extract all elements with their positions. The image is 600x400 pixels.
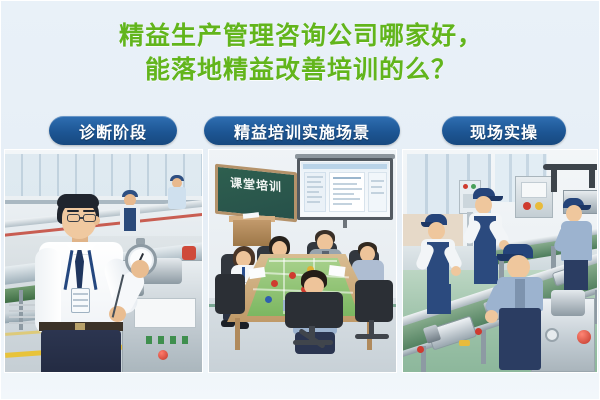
panel-practice <box>402 149 598 373</box>
assembly-line-illustration <box>403 150 597 372</box>
poster-title: 精益生产管理咨询公司哪家好， 能落地精益改善培训的么？ <box>1 19 600 87</box>
badge-practice: 现场实操 <box>442 116 566 145</box>
title-line-2: 能落地精益改善培训的么？ <box>1 53 600 87</box>
panel-training: 课堂培训 <box>208 149 397 373</box>
panel-row: 课堂培训 <box>1 149 600 373</box>
badge-diagnosis: 诊断阶段 <box>49 116 177 145</box>
panel-diagnosis <box>4 149 203 373</box>
badge-training: 精益培训实施场景 <box>204 116 400 145</box>
classroom-training-illustration: 课堂培训 <box>209 150 396 372</box>
factory-consultant-illustration <box>5 150 202 372</box>
poster-canvas: 精益生产管理咨询公司哪家好， 能落地精益改善培训的么？ 诊断阶段 精益培训实施场… <box>0 0 600 400</box>
title-line-1: 精益生产管理咨询公司哪家好， <box>1 19 600 53</box>
badge-row: 诊断阶段 精益培训实施场景 现场实操 <box>1 116 600 146</box>
